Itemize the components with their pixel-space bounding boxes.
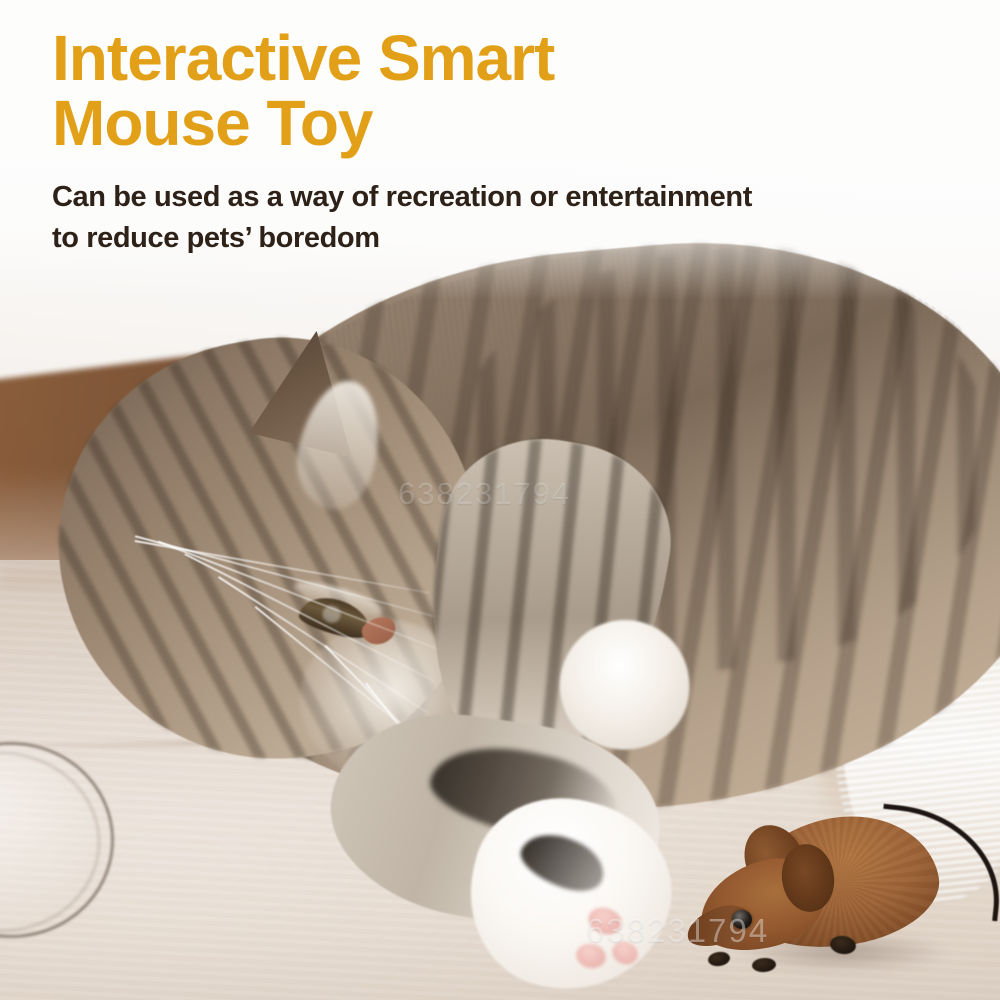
page-subtitle: Can be used as a way of recreation or en… — [52, 177, 952, 259]
subhead-line-2: to reduce pets’ boredom — [52, 218, 952, 259]
mouse-toy-foot — [707, 951, 731, 968]
mouse-toy-eye — [732, 910, 752, 929]
headline-line-2: Mouse Toy — [52, 91, 952, 156]
page-title: Interactive Smart Mouse Toy — [52, 26, 952, 157]
mouse-toy — [690, 800, 1000, 1000]
product-poster: 638231794 638231794 Interactive Smart Mo… — [0, 0, 1000, 1000]
subhead-line-1: Can be used as a way of recreation or en… — [52, 181, 752, 213]
poster-text-block: Interactive Smart Mouse Toy Can be used … — [52, 26, 952, 259]
headline-line-1: Interactive Smart — [52, 22, 554, 94]
